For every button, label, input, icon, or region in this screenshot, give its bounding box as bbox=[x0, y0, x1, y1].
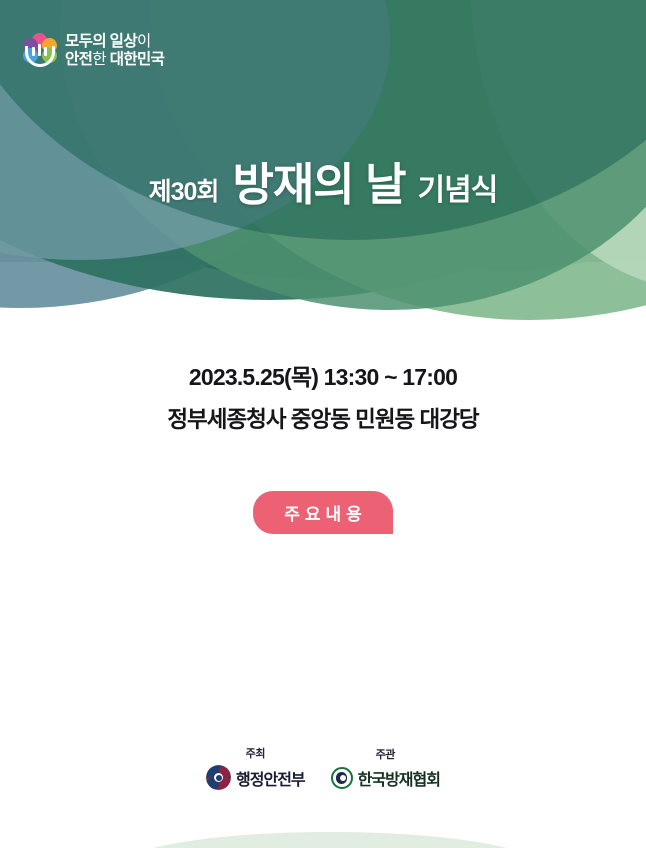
people-icon bbox=[31, 44, 49, 57]
slogan-line1-bold: 모두의 일상 bbox=[65, 33, 137, 50]
safety-campaign-slogan: 모두의 일상이 안전한 대한민국 bbox=[65, 33, 164, 70]
event-poster: 모두의 일상이 안전한 대한민국 제30회 방재의 날 기념식 2023.5.2… bbox=[0, 0, 646, 848]
event-venue: 정부세종청사 중앙동 민원동 대강당 bbox=[0, 402, 646, 434]
event-datetime: 2023.5.25(목) 13:30 ~ 17:00 bbox=[0, 358, 646, 392]
organization-name: 행정안전부 bbox=[236, 766, 305, 790]
organization-organizer: 주관 한국방재협회 bbox=[331, 746, 440, 790]
slogan-line2-bold: 안전 bbox=[65, 51, 92, 68]
footer-organizations: 주최 행정안전부 주관 한국방재협회 bbox=[0, 745, 646, 790]
page-title: 제30회 방재의 날 기념식 bbox=[0, 148, 646, 213]
organization-host: 주최 행정안전부 bbox=[206, 745, 305, 790]
slogan-line1-thin: 이 bbox=[137, 33, 151, 50]
main-content: 국가재난관리 유공자 포상 방재신기술 전시부스 운영 ’22년 재난예방 포스… bbox=[0, 540, 646, 710]
status-badge: 주요내용 bbox=[253, 491, 393, 534]
organization-role: 주관 bbox=[376, 746, 395, 762]
bottom-decorative-arc bbox=[120, 832, 540, 848]
organization-name: 한국방재협회 bbox=[358, 766, 440, 790]
kdpa-circle-icon bbox=[331, 767, 353, 789]
taeguk-mois-icon bbox=[206, 765, 231, 790]
organization-role: 주최 bbox=[246, 745, 265, 761]
slogan-line2-bold2: 대한민국 bbox=[106, 51, 164, 68]
title-main: 방재의 날 bbox=[232, 148, 405, 213]
safety-flower-hands-icon bbox=[22, 33, 58, 69]
event-meta: 2023.5.25(목) 13:30 ~ 17:00 정부세종청사 중앙동 민원… bbox=[0, 358, 646, 434]
safety-campaign-logo: 모두의 일상이 안전한 대한민국 bbox=[22, 33, 164, 70]
title-suffix: 기념식 bbox=[418, 165, 498, 209]
title-prefix: 제30회 bbox=[149, 172, 219, 208]
main-content-badge-wrap: 주요내용 bbox=[0, 491, 646, 534]
slogan-line2-thin: 한 bbox=[92, 51, 106, 68]
